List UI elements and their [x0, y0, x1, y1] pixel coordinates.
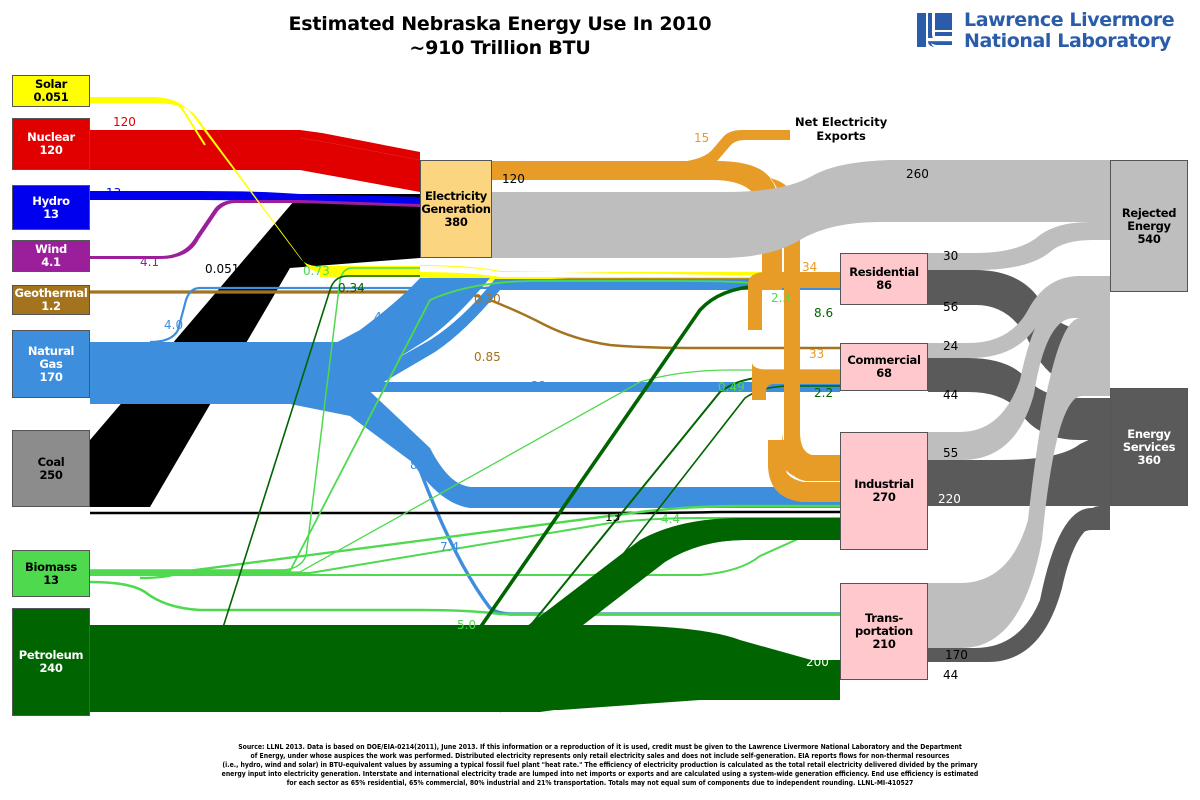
footer-line-4: energy input into electricity generation…: [158, 769, 1041, 778]
node-transportation: Trans-portation210: [840, 583, 928, 680]
node-energy_services: EnergyServices360: [1110, 388, 1188, 506]
node-label: Rejected: [1122, 207, 1176, 220]
node-rejected_energy: RejectedEnergy540: [1110, 160, 1188, 292]
node-geothermal: Geothermal1.2: [12, 285, 90, 315]
footer-line-5: for each sector as 65% residential, 65% …: [158, 778, 1041, 787]
flow-label-electricity_generation-to-rejected_energy: 260: [906, 167, 929, 181]
flow-label-transportation-to-rejected_energy: 170: [945, 648, 968, 662]
flow-label-biomass-to-electricity_generation: 0.73: [303, 264, 330, 278]
flow-label-biomass-to-industrial: 4.4: [661, 512, 680, 526]
flow-label-petroleum-to-electricity_generation: 0.34: [338, 281, 365, 295]
node-label: Energy: [1127, 220, 1170, 233]
node-solar: Solar0.051: [12, 75, 90, 107]
flow-label-natural_gas-to-electricity_generation: 40: [374, 310, 389, 324]
flow-label-geothermal-to-residential: 0.85: [474, 350, 501, 364]
flow-label-natural_gas-to-industrial: 86: [410, 458, 425, 472]
flow-label-solar-to-electricity_generation: 0.051: [205, 262, 239, 276]
title-line-2: ~910 Trillion BTU: [180, 36, 820, 60]
node-value: 240: [39, 662, 62, 675]
node-value: 380: [444, 216, 467, 229]
flow-label-nuclear-to-electricity_generation: 120: [113, 115, 136, 129]
flow-label-electricity_generation-to-net_exports: 15: [694, 131, 709, 145]
title-line-1: Estimated Nebraska Energy Use In 2010: [180, 12, 820, 36]
node-label: Biomass: [25, 561, 77, 574]
node-value: 13: [43, 208, 58, 221]
logo-line-2: National Laboratory: [964, 31, 1174, 52]
node-biomass: Biomass13: [12, 550, 90, 597]
flow-label-petroleum-to-commercial: 2.2: [814, 386, 833, 400]
node-label: Gas: [39, 358, 62, 371]
node-commercial: Commercial68: [840, 343, 928, 391]
node-natural_gas: NaturalGas170: [12, 330, 90, 398]
node-wind: Wind4.1: [12, 240, 90, 272]
node-electricity_generation: ElectricityGeneration380: [420, 160, 492, 258]
flow-label-wind-to-electricity_generation: 4.1: [140, 255, 159, 269]
node-value: 540: [1137, 233, 1160, 246]
node-label: Services: [1123, 441, 1175, 454]
node-value: 170: [39, 371, 62, 384]
flow-label-residential-to-energy_services: 56: [943, 300, 958, 314]
footer-line-2: of Energy, under whose auspices the work…: [158, 751, 1041, 760]
node-label: Coal: [38, 456, 65, 469]
node-value: 86: [876, 279, 891, 292]
sankey-diagram: Estimated Nebraska Energy Use In 2010 ~9…: [0, 0, 1200, 800]
node-nuclear: Nuclear120: [12, 118, 90, 170]
node-hydro: Hydro13: [12, 185, 90, 230]
flow-label-residential-to-rejected_energy: 30: [943, 249, 958, 263]
sankey-flow-canvas: [0, 0, 1200, 800]
flow-label-petroleum-to-industrial: 36: [813, 528, 828, 542]
footer-line-3: (i.e., hydro, wind and solar) in BTU-equ…: [158, 760, 1041, 769]
llnl-logo: Lawrence Livermore National Laboratory: [915, 10, 1174, 52]
footer-note: Source: LLNL 2013. Data is based on DOE/…: [158, 742, 1041, 787]
flow-label-electricity-to-industrial: 35: [808, 455, 823, 469]
logo-line-1: Lawrence Livermore: [964, 10, 1174, 31]
flow-label-biomass-to-commercial: 0.49: [718, 380, 745, 394]
flow-label-electricity-to-commercial: 33: [809, 347, 824, 361]
flow-label-coal-to-industrial: 13: [605, 510, 620, 524]
node-value: 250: [39, 469, 62, 482]
flow-label-biomass-to-residential: 2.3: [771, 291, 790, 305]
flow-label-geothermal-to-electricity_generation: 0.30: [474, 292, 501, 306]
footer-line-1: Source: LLNL 2013. Data is based on DOE/…: [158, 742, 1041, 751]
node-value: 210: [872, 638, 895, 651]
node-value: 360: [1137, 454, 1160, 467]
node-petroleum: Petroleum240: [12, 608, 90, 716]
flow-petroleum-ind-bend: [620, 520, 840, 572]
annotation-line: Exports: [795, 129, 887, 143]
flow-label-biomass-to-transportation: 5.0: [457, 618, 476, 632]
flow-label-electricity_generation-to-distribution: 120: [502, 172, 525, 186]
annotation-line: Net Electricity: [795, 115, 887, 129]
node-value: 68: [876, 367, 891, 380]
flow-label-electricity-to-residential: 34: [802, 260, 817, 274]
node-label: Energy: [1127, 428, 1170, 441]
node-residential: Residential86: [840, 253, 928, 305]
flow-coal-to-industrial: [90, 512, 840, 513]
flow-label-petroleum-to-residential: 8.6: [814, 306, 833, 320]
flow-label-industrial-to-energy_services: 220: [938, 492, 961, 506]
flow-label-industrial-to-rejected_energy: 55: [943, 446, 958, 460]
node-value: 13: [43, 574, 58, 587]
flow-label-natural_gas-to-commercial: 32: [531, 379, 546, 393]
node-label: Generation: [421, 203, 490, 216]
annotation-net-electricity-exports: Net ElectricityExports: [795, 115, 887, 143]
node-label: Electricity: [425, 190, 487, 203]
flow-label-commercial-to-rejected_energy: 24: [943, 339, 958, 353]
flow-label-petroleum-to-transportation: 200: [806, 655, 829, 669]
flow-label-coal-to-electricity_generation: 240: [130, 425, 153, 439]
flow-label-natural_gas-to-residential: 4.0: [164, 318, 183, 332]
node-industrial: Industrial270: [840, 432, 928, 550]
node-value: 1.2: [41, 300, 60, 313]
node-value: 120: [39, 144, 62, 157]
llnl-logo-text: Lawrence Livermore National Laboratory: [964, 10, 1174, 52]
flow-label-commercial-to-energy_services: 44: [943, 388, 958, 402]
node-coal: Coal250: [12, 430, 90, 507]
node-label: Natural: [28, 345, 74, 358]
node-label: Hydro: [32, 195, 69, 208]
llnl-logo-icon: [915, 11, 955, 51]
page-title: Estimated Nebraska Energy Use In 2010 ~9…: [180, 12, 820, 60]
flow-label-transportation-to-energy_services: 44: [943, 668, 958, 682]
flow-label-hydro-to-electricity_generation: 13: [106, 186, 121, 200]
node-value: 0.051: [34, 91, 69, 104]
node-value: 270: [872, 491, 895, 504]
flow-label-natural_gas-to-transportation: 7.4: [440, 540, 459, 554]
node-value: 4.1: [41, 256, 60, 269]
